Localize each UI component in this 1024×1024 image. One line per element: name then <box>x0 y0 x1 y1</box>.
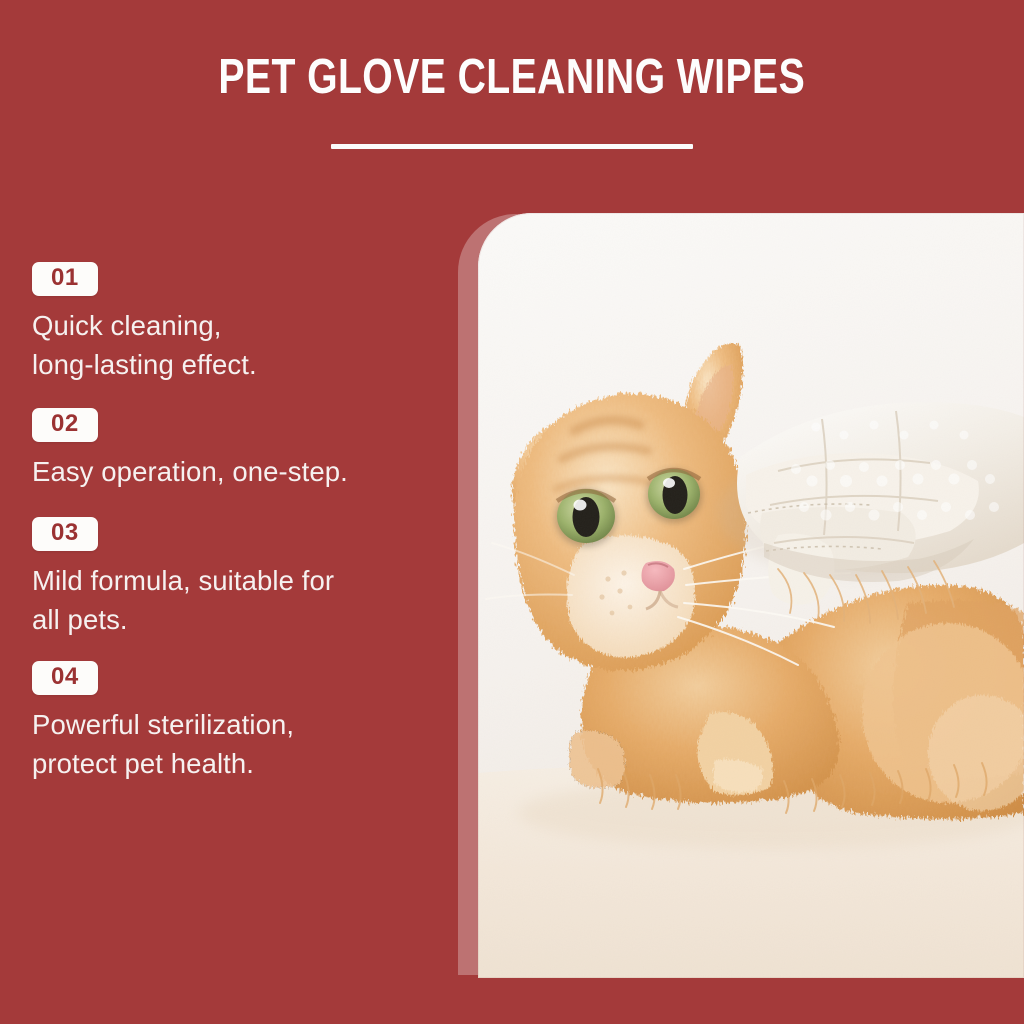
title-divider <box>331 144 693 149</box>
feature-list: 01 Quick cleaning, long-lasting effect. … <box>32 262 444 809</box>
feature-number-badge-01: 01 <box>32 262 98 296</box>
feature-item-03: 03 Mild formula, suitable for all pets. <box>32 517 444 639</box>
feature-item-01: 01 Quick cleaning, long-lasting effect. <box>32 262 444 384</box>
feature-item-02: 02 Easy operation, one-step. <box>32 408 444 491</box>
feature-item-04: 04 Powerful sterilization, protect pet h… <box>32 661 444 783</box>
cat-with-glove-photo <box>478 213 1024 978</box>
product-photo-card <box>478 213 1024 978</box>
feature-number-badge-02: 02 <box>32 408 98 442</box>
feature-text-01: Quick cleaning, long-lasting effect. <box>32 306 432 384</box>
feature-number-badge-04: 04 <box>32 661 98 695</box>
feature-number-badge-03: 03 <box>32 517 98 551</box>
feature-text-04: Powerful sterilization, protect pet heal… <box>32 705 432 783</box>
title-block: PET GLOVE CLEANING WIPES <box>0 52 1024 104</box>
product-poster: PET GLOVE CLEANING WIPES 01 Quick cleani… <box>0 0 1024 1024</box>
page-title: PET GLOVE CLEANING WIPES <box>219 52 806 104</box>
feature-text-03: Mild formula, suitable for all pets. <box>32 561 432 639</box>
feature-text-02: Easy operation, one-step. <box>32 452 432 491</box>
